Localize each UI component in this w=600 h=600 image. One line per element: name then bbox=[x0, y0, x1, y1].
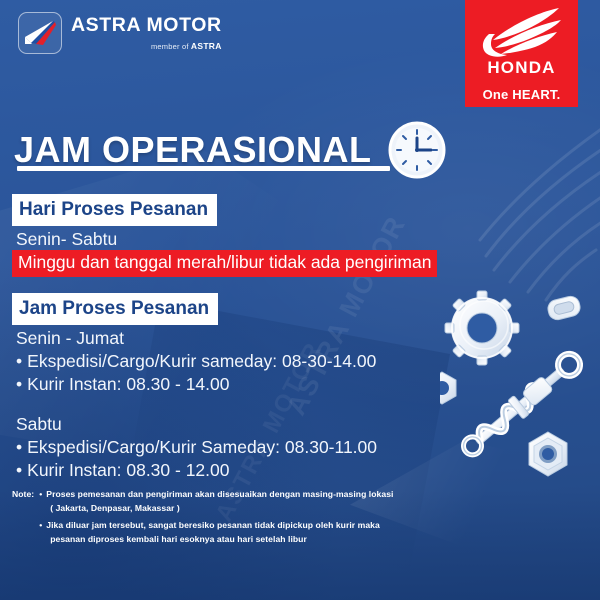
weekday-item-instan-text: Kurir Instan: 08.30 - 14.00 bbox=[27, 374, 229, 394]
note-item-2-sub: pesanan diproses kembali hari esoknya at… bbox=[39, 533, 393, 545]
page-title: JAM OPERASIONAL bbox=[14, 132, 372, 168]
saturday-item-instan: •Kurir Instan: 08.30 - 12.00 bbox=[16, 459, 377, 482]
note-items: • Proses pemesanan dan pengiriman akan d… bbox=[39, 488, 393, 546]
note-item-1-text: Proses pemesanan dan pengiriman akan dis… bbox=[46, 488, 393, 500]
note-row: Note: • Proses pemesanan dan pengiriman … bbox=[12, 488, 393, 546]
hari-range-text: Senin- Sabtu bbox=[16, 228, 117, 252]
note-item-2-text: Jika diluar jam tersebut, sangat beresik… bbox=[46, 519, 393, 531]
bullet-icon: • bbox=[16, 436, 22, 459]
bullet-icon: • bbox=[16, 373, 22, 396]
clock-icon bbox=[388, 121, 446, 179]
honda-wordmark: HONDA bbox=[487, 59, 555, 76]
holiday-alert-bar: Minggu dan tanggal merah/libur tidak ada… bbox=[12, 250, 437, 277]
weekday-days-label: Senin - Jumat bbox=[16, 327, 376, 350]
section-jam-proses-pesanan: Jam Proses Pesanan bbox=[12, 293, 218, 325]
bullet-icon: • bbox=[16, 459, 22, 482]
honda-wing-icon bbox=[479, 6, 565, 58]
note-item-1: • Proses pemesanan dan pengiriman akan d… bbox=[39, 488, 393, 500]
astra-member-brand: ASTRA bbox=[191, 41, 222, 51]
honda-tagline-heart: HEART. bbox=[512, 87, 560, 102]
saturday-days-label: Sabtu bbox=[16, 413, 377, 436]
note-item-2: • Jika diluar jam tersebut, sangat beres… bbox=[39, 519, 393, 531]
weekday-item-ekspedisi-text: Ekspedisi/Cargo/Kurir sameday: 08-30-14.… bbox=[27, 351, 376, 371]
bullet-icon: • bbox=[16, 350, 22, 373]
honda-tagline-one: One bbox=[483, 87, 513, 102]
astra-motor-logo: ASTRA MOTOR member of ASTRA bbox=[18, 12, 222, 54]
poster-canvas: ASTRA MOTOR ASTRA MOTOR ASTRA MOTOR memb… bbox=[0, 0, 600, 600]
astra-arrow-icon bbox=[18, 12, 62, 54]
bullet-icon: • bbox=[39, 488, 46, 500]
section-badge-hari: Hari Proses Pesanan bbox=[12, 194, 217, 226]
saturday-item-instan-text: Kurir Instan: 08.30 - 12.00 bbox=[27, 460, 229, 480]
note-label: Note: bbox=[12, 488, 39, 500]
section-badge-jam: Jam Proses Pesanan bbox=[12, 293, 218, 325]
title-underline-rule bbox=[17, 166, 390, 171]
astra-logo-text: ASTRA MOTOR member of ASTRA bbox=[71, 12, 222, 51]
section-hari-proses-pesanan: Hari Proses Pesanan bbox=[12, 194, 217, 226]
note-item-1-sub: ( Jakarta, Denpasar, Makassar ) bbox=[39, 502, 393, 514]
honda-tagline: One HEART. bbox=[483, 88, 561, 101]
astra-logo-member: member of ASTRA bbox=[71, 41, 222, 51]
weekday-item-ekspedisi: •Ekspedisi/Cargo/Kurir sameday: 08-30-14… bbox=[16, 350, 376, 373]
schedule-group-saturday: Sabtu •Ekspedisi/Cargo/Kurir Sameday: 08… bbox=[16, 413, 377, 482]
saturday-item-ekspedisi-text: Ekspedisi/Cargo/Kurir Sameday: 08.30-11.… bbox=[27, 437, 377, 457]
astra-member-prefix: member of bbox=[151, 42, 191, 51]
note-block: Note: • Proses pemesanan dan pengiriman … bbox=[12, 488, 393, 546]
motorcycle-parts-icon bbox=[440, 286, 600, 486]
astra-logo-name: ASTRA MOTOR bbox=[71, 16, 222, 36]
saturday-item-ekspedisi: •Ekspedisi/Cargo/Kurir Sameday: 08.30-11… bbox=[16, 436, 377, 459]
honda-logo-badge: HONDA One HEART. bbox=[465, 0, 578, 107]
weekday-item-instan: •Kurir Instan: 08.30 - 14.00 bbox=[16, 373, 376, 396]
schedule-group-weekday: Senin - Jumat •Ekspedisi/Cargo/Kurir sam… bbox=[16, 327, 376, 396]
bullet-icon: • bbox=[39, 519, 46, 531]
